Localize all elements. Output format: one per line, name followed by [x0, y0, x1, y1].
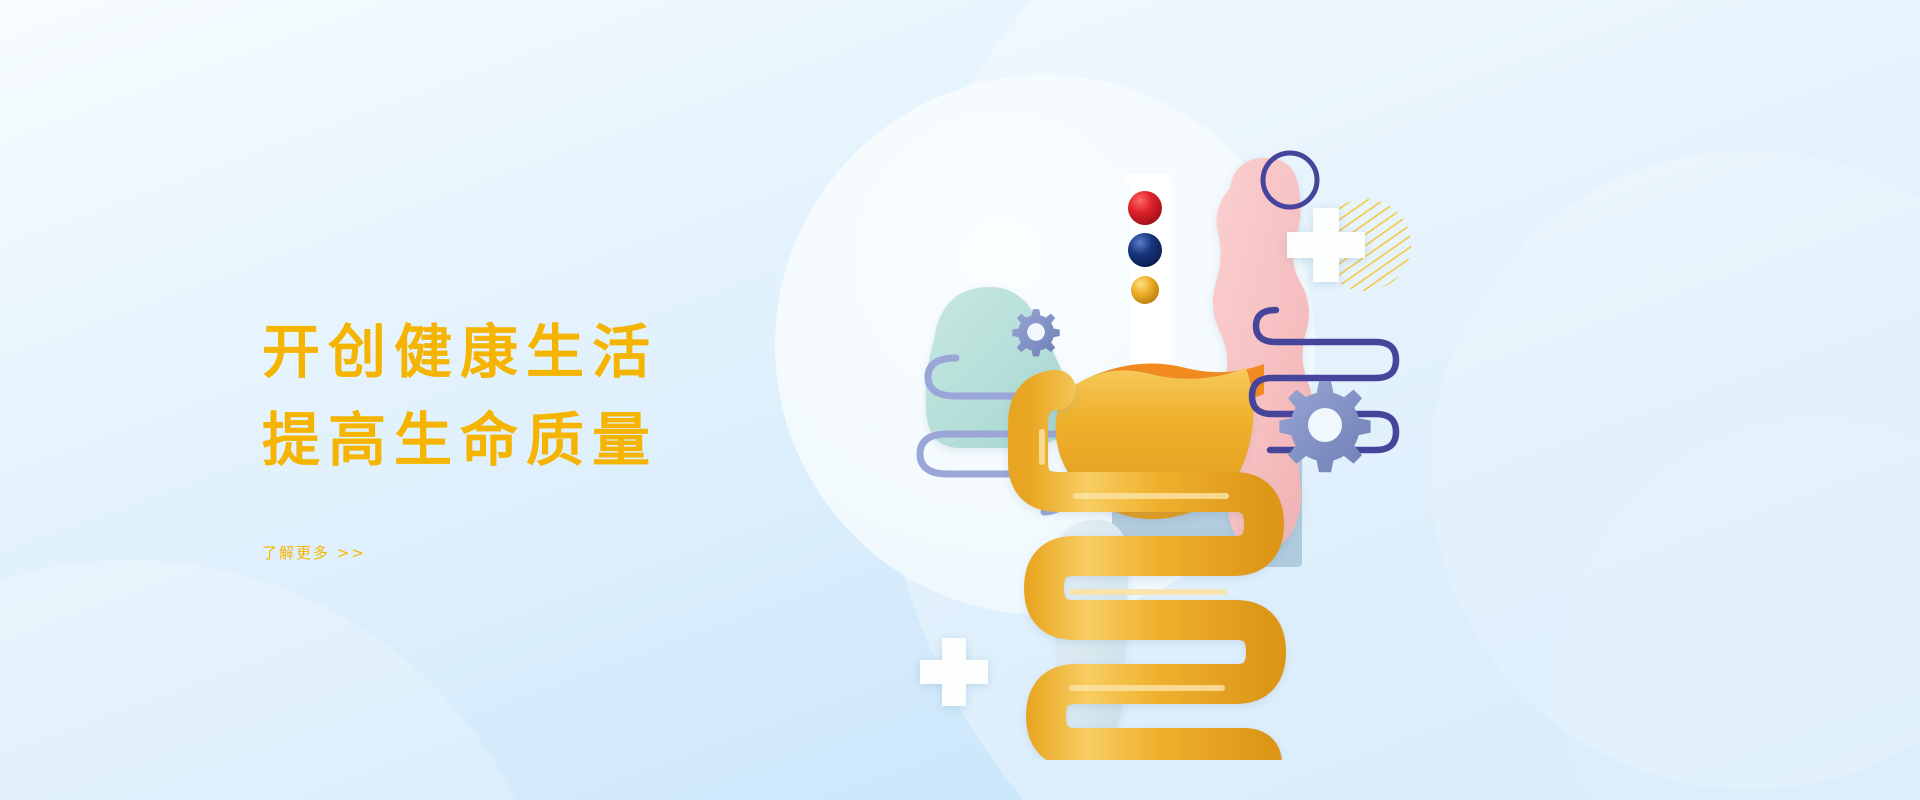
- gear-small-icon: [1012, 309, 1059, 356]
- headline-line-1: 开创健康生活: [262, 308, 882, 396]
- cross-bottom-icon: [920, 638, 988, 706]
- hero-copy: 开创健康生活 提高生命质量 了解更多 >>: [262, 308, 882, 563]
- headline-line-2: 提高生命质量: [262, 396, 882, 484]
- hero-banner: 开创健康生活 提高生命质量 了解更多 >>: [0, 0, 1920, 800]
- pill-red: [1128, 191, 1162, 225]
- pill-amber: [1131, 276, 1159, 304]
- gear-large-icon: [1279, 381, 1370, 472]
- learn-more-link[interactable]: 了解更多 >>: [262, 542, 366, 563]
- digestive-system-illustration: [860, 60, 1600, 760]
- background-circle-soft-2: [1560, 420, 1920, 800]
- pill-navy: [1128, 233, 1162, 267]
- background-circle-left: [0, 560, 560, 800]
- teal-organ-shape: [926, 287, 1075, 448]
